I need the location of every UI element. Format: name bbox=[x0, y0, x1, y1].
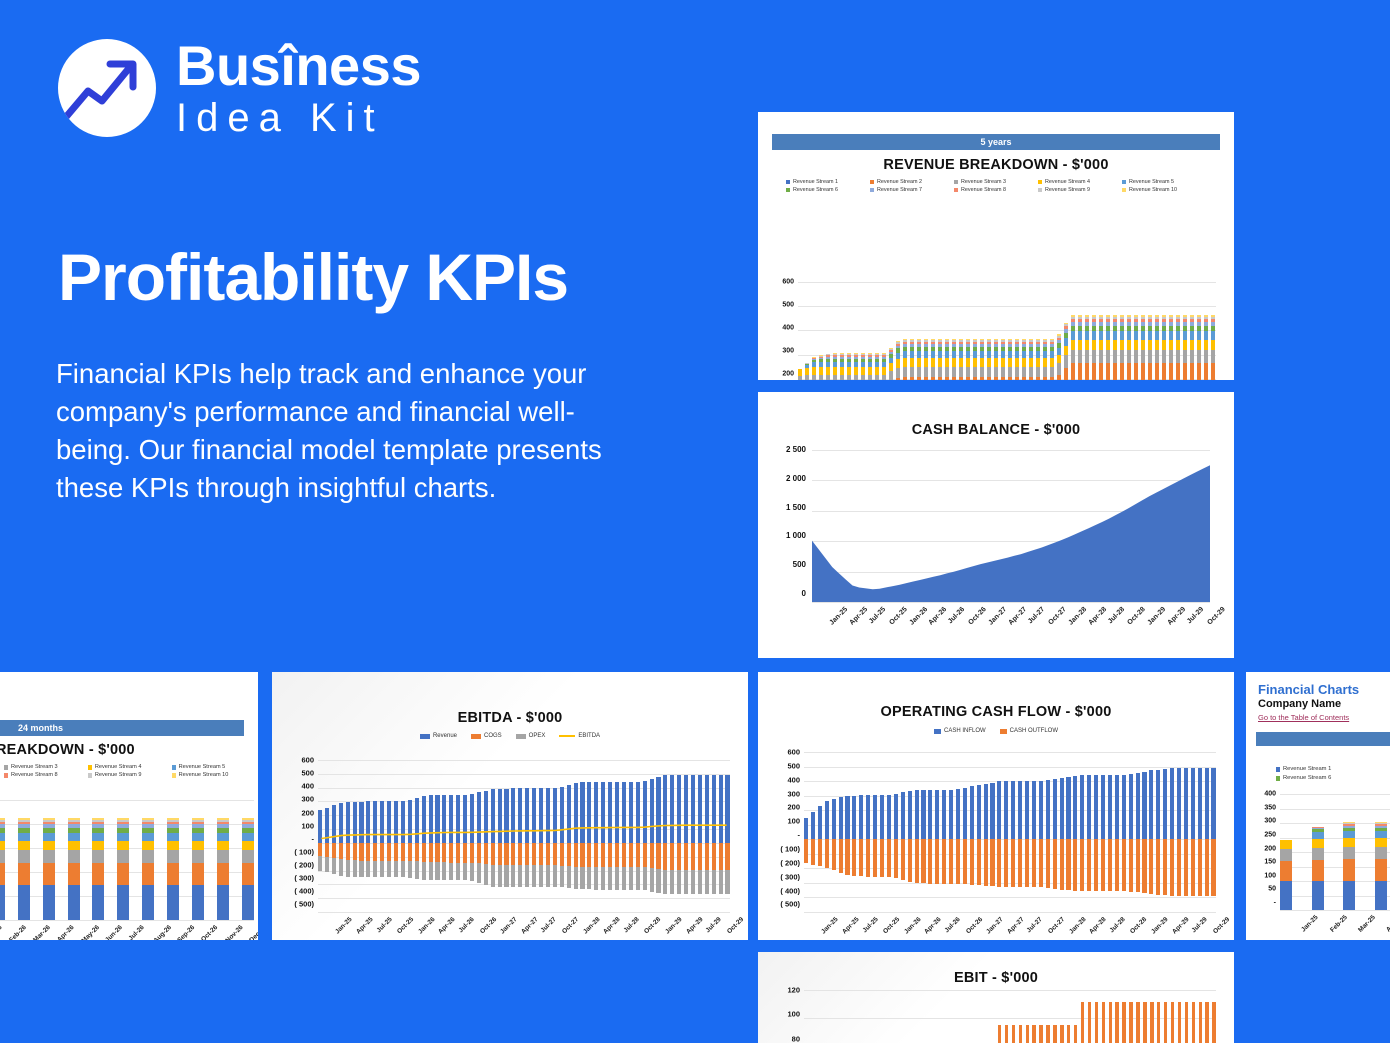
bar bbox=[854, 282, 858, 380]
bar bbox=[1211, 282, 1215, 380]
bar bbox=[1036, 282, 1040, 380]
bar-segment bbox=[882, 375, 886, 380]
bar-segment-negative bbox=[949, 839, 953, 884]
bar-segment-negative bbox=[1018, 839, 1022, 887]
bar bbox=[1015, 282, 1019, 380]
bar bbox=[1078, 282, 1082, 380]
bar bbox=[1343, 794, 1355, 910]
legend-item: Revenue Stream 9 bbox=[1038, 187, 1122, 193]
x-axis-tick: Jan-28 bbox=[582, 916, 602, 936]
bar-segment bbox=[1375, 859, 1387, 881]
bar-segment-positive bbox=[894, 794, 898, 839]
bar-segment bbox=[92, 863, 104, 885]
bar-segment bbox=[217, 841, 229, 851]
bar-segment bbox=[1280, 849, 1292, 861]
bar-segment bbox=[242, 833, 254, 841]
bar-segment bbox=[1078, 340, 1082, 350]
legend-swatch-icon bbox=[559, 735, 575, 737]
bar bbox=[1071, 282, 1075, 380]
x-axis-tick: Jul-27 bbox=[540, 916, 558, 934]
bar-segment-positive bbox=[984, 784, 988, 840]
bar-segment bbox=[1169, 331, 1173, 339]
bar-segment bbox=[1050, 377, 1054, 380]
bar-segment bbox=[910, 367, 914, 378]
bar-segment bbox=[242, 885, 254, 920]
x-axis-tick: Apr-26 bbox=[923, 916, 943, 936]
bar-segment bbox=[1312, 860, 1324, 881]
legend-label: Revenue Stream 2 bbox=[877, 179, 922, 185]
legend-swatch-icon bbox=[516, 734, 526, 739]
bar bbox=[1004, 752, 1008, 912]
bar-segment-positive bbox=[811, 812, 815, 839]
bar-segment bbox=[167, 833, 179, 841]
bar bbox=[1184, 752, 1188, 912]
bar-segment bbox=[1064, 338, 1068, 346]
bar-segment-positive bbox=[1115, 775, 1119, 839]
bar bbox=[804, 990, 807, 1043]
bar-segment bbox=[1102, 1002, 1105, 1043]
bar bbox=[938, 282, 942, 380]
bar bbox=[1150, 990, 1153, 1043]
bar-segment bbox=[1022, 358, 1026, 366]
x-axis-tick: Jan-27 bbox=[988, 606, 1009, 627]
bar-segment bbox=[910, 351, 914, 358]
bar-segment bbox=[1071, 331, 1075, 339]
card-ebitda[interactable]: EBITDA - $'000 RevenueCOGSOPEXEBITDA 600… bbox=[272, 672, 748, 940]
bar-segment bbox=[1064, 368, 1068, 380]
card-financial-charts-sheet[interactable]: Financial Charts Company Name Go to the … bbox=[1246, 672, 1390, 940]
legend-item: OPEX bbox=[516, 733, 546, 739]
bar-segment-positive bbox=[1142, 772, 1146, 840]
bar-segment bbox=[931, 377, 935, 380]
card-cash-balance[interactable]: CASH BALANCE - $'000 2 5002 0001 5001 00… bbox=[758, 392, 1234, 658]
x-axis-tick: Jul-27 bbox=[1026, 916, 1044, 934]
bar-segment bbox=[994, 367, 998, 378]
bar-segment bbox=[1071, 350, 1075, 363]
x-axis-tick: Oct-29 bbox=[1206, 606, 1226, 626]
bar bbox=[846, 990, 849, 1043]
bar-segment bbox=[805, 368, 809, 375]
x-axis-tick: Oct-27 bbox=[561, 916, 580, 935]
bar-segment bbox=[1178, 1002, 1181, 1043]
chart-title-cash-balance: CASH BALANCE - $'000 bbox=[758, 422, 1234, 438]
card-operating-cash-flow[interactable]: OPERATING CASH FLOW - $'000 CASH INFLOWC… bbox=[758, 672, 1234, 940]
bar bbox=[826, 282, 830, 380]
bar bbox=[1134, 282, 1138, 380]
bar-segment bbox=[117, 850, 129, 863]
bar-segment bbox=[903, 367, 907, 378]
bar-segment bbox=[1141, 340, 1145, 350]
bar-segment bbox=[1022, 351, 1026, 358]
bar-segment bbox=[896, 353, 900, 360]
x-axis-tick: Apr-25 bbox=[848, 606, 869, 627]
bar-segment-positive bbox=[1039, 781, 1043, 839]
bar-segment bbox=[1008, 367, 1012, 378]
bar-segment bbox=[43, 833, 55, 841]
bar bbox=[1198, 752, 1202, 912]
legend-item: Revenue Stream 7 bbox=[870, 187, 954, 193]
bar-segment bbox=[833, 375, 837, 380]
bar bbox=[1074, 990, 1077, 1043]
bar-segment bbox=[959, 377, 963, 380]
bar bbox=[901, 752, 905, 912]
bar-segment bbox=[833, 367, 837, 375]
cash-balance-area bbox=[772, 450, 1220, 602]
bar bbox=[931, 282, 935, 380]
y-axis-tick: 200 bbox=[787, 804, 800, 812]
bar-segment-positive bbox=[1108, 775, 1112, 839]
bar-segment-positive bbox=[1205, 768, 1209, 839]
bar-segment bbox=[1015, 358, 1019, 366]
x-axis-tick: Oct-28 bbox=[1129, 916, 1148, 935]
bar-segment-positive bbox=[1018, 781, 1022, 839]
bar-segment bbox=[1085, 331, 1089, 339]
bar-segment bbox=[973, 351, 977, 358]
bar bbox=[987, 282, 991, 380]
bar bbox=[1094, 752, 1098, 912]
x-axis-tick: Oct-26 bbox=[964, 916, 983, 935]
x-axis-tick: Jul-29 bbox=[1191, 916, 1209, 934]
y-axis-tick: - bbox=[798, 831, 801, 839]
bar bbox=[908, 990, 911, 1043]
bar-segment bbox=[826, 367, 830, 375]
legend-label: Revenue Stream 5 bbox=[1129, 179, 1174, 185]
y-axis-tick: 250 bbox=[1264, 831, 1276, 838]
bar bbox=[1148, 282, 1152, 380]
bar bbox=[936, 990, 939, 1043]
bar bbox=[1155, 282, 1159, 380]
x-axis-tick: Oct-28 bbox=[643, 916, 662, 935]
bar-segment bbox=[1211, 340, 1215, 350]
bar-segment-positive bbox=[1184, 768, 1188, 839]
bar-segment bbox=[1375, 847, 1387, 859]
legend-item: CASH INFLOW bbox=[934, 728, 986, 734]
x-axis-tick: Mar-25 bbox=[1357, 914, 1377, 934]
legend-item: Revenue Stream 8 bbox=[954, 187, 1038, 193]
bar-segment bbox=[896, 378, 900, 380]
bar-segment-negative bbox=[832, 839, 836, 870]
bar-segment bbox=[952, 358, 956, 366]
bar-segment bbox=[889, 371, 893, 380]
bar-segment bbox=[167, 885, 179, 920]
bar bbox=[942, 990, 945, 1043]
bar-series bbox=[804, 990, 1216, 1043]
legend-item: Revenue Stream 10 bbox=[1122, 187, 1206, 193]
bar-segment bbox=[896, 368, 900, 379]
bar-segment-negative bbox=[887, 839, 891, 877]
bar-segment bbox=[1212, 1002, 1215, 1043]
legend-item: EBITDA bbox=[559, 733, 600, 739]
legend-swatch-icon bbox=[1038, 180, 1042, 184]
bar-segment-positive bbox=[1011, 781, 1015, 839]
bar-segment bbox=[1057, 355, 1061, 364]
bar-segment bbox=[882, 367, 886, 375]
bar-segment bbox=[945, 367, 949, 378]
x-axis-tick: Apr-29 bbox=[1171, 916, 1191, 936]
bar-segment bbox=[903, 358, 907, 366]
bar-segment bbox=[1197, 350, 1201, 363]
bar-segment bbox=[805, 375, 809, 380]
bar-segment bbox=[68, 841, 80, 851]
legend-label: Revenue Stream 3 bbox=[961, 179, 1006, 185]
bar-segment bbox=[903, 377, 907, 380]
bar-segment bbox=[242, 841, 254, 851]
bar-segment bbox=[1088, 1002, 1091, 1043]
bar bbox=[1129, 752, 1133, 912]
bar-segment bbox=[931, 358, 935, 366]
legend-label: Revenue Stream 6 bbox=[1283, 775, 1331, 781]
bar-segment bbox=[192, 885, 204, 920]
legend-item: Revenue Stream 4 bbox=[1038, 179, 1122, 185]
legend-label: Revenue Stream 3 bbox=[11, 764, 58, 770]
bar bbox=[1178, 990, 1181, 1043]
bar-segment bbox=[1078, 363, 1082, 380]
bar-segment-negative bbox=[1053, 839, 1057, 889]
bar-segment bbox=[1015, 367, 1019, 378]
bar-segment bbox=[1099, 340, 1103, 350]
bar bbox=[859, 752, 863, 912]
bar bbox=[873, 752, 877, 912]
bar bbox=[970, 990, 973, 1043]
bar-segment bbox=[987, 367, 991, 378]
bar-segment bbox=[0, 833, 5, 841]
bar-segment-positive bbox=[977, 785, 981, 839]
legend-swatch-icon bbox=[870, 188, 874, 192]
legend-label: Revenue bbox=[433, 733, 457, 739]
card-revenue-breakdown-5y[interactable]: 5 years REVENUE BREAKDOWN - $'000 Revenu… bbox=[758, 112, 1234, 380]
bar-segment bbox=[68, 833, 80, 841]
bar-segment-negative bbox=[1115, 839, 1119, 891]
bar-segment bbox=[1204, 340, 1208, 350]
bar-segment-negative bbox=[1039, 839, 1043, 887]
bar-segment bbox=[1176, 363, 1180, 380]
bar-segment-positive bbox=[832, 799, 836, 840]
table-of-contents-link[interactable]: Go to the Table of Contents bbox=[1258, 713, 1359, 722]
bar bbox=[825, 990, 828, 1043]
bar-segment bbox=[1026, 1025, 1029, 1043]
y-axis-tick: 500 bbox=[782, 302, 794, 309]
bar-segment bbox=[1095, 1002, 1098, 1043]
bar-segment bbox=[1022, 377, 1026, 380]
bar-segment-positive bbox=[1129, 774, 1133, 839]
bar-segment bbox=[142, 863, 154, 885]
bar-segment bbox=[1280, 840, 1292, 849]
bar-segment-negative bbox=[1080, 839, 1084, 891]
legend-item: Revenue Stream 3 bbox=[4, 764, 88, 770]
x-axis-tick: Oct-27 bbox=[1047, 606, 1067, 626]
slide-canvas: Busîness Idea Kit Profitability KPIs Fin… bbox=[0, 0, 1390, 1043]
x-axis: Jan-25Apr-25Jul-25Oct-25Jan-26Apr-26Jul-… bbox=[804, 914, 1216, 940]
bar-segment bbox=[1375, 881, 1387, 910]
bar bbox=[852, 990, 855, 1043]
x-axis-tick: Jul-26 bbox=[947, 606, 966, 625]
legend-label: Revenue Stream 8 bbox=[961, 187, 1006, 193]
bar-segment bbox=[1078, 331, 1082, 339]
bar-segment bbox=[938, 351, 942, 358]
x-axis-tick: Jul-25 bbox=[868, 606, 887, 625]
x-axis-tick: Apr-26 bbox=[56, 924, 76, 940]
bar-segment-negative bbox=[1108, 839, 1112, 891]
bar bbox=[866, 990, 869, 1043]
plot-financial-charts: 40035030025020015010050-Jan-25Feb-25Mar-… bbox=[1254, 794, 1390, 910]
bar-segment-positive bbox=[949, 790, 953, 840]
bar-segment bbox=[812, 367, 816, 375]
bar-segment-negative bbox=[1094, 839, 1098, 891]
plot-revenue-breakdown-24m: Nov-25Dec-25Jan-26Feb-26Mar-26Apr-26May-… bbox=[0, 800, 254, 920]
bar-segment bbox=[973, 358, 977, 366]
bar bbox=[847, 282, 851, 380]
bar-segment-negative bbox=[956, 839, 960, 884]
bar-segment-negative bbox=[1004, 839, 1008, 886]
legend-item: Revenue Stream 6 bbox=[1276, 775, 1390, 781]
bar bbox=[1211, 752, 1215, 912]
bar-segment bbox=[896, 359, 900, 367]
legend-ebitda: RevenueCOGSOPEXEBITDA bbox=[272, 733, 748, 739]
y-axis-tick: ( 100) bbox=[780, 845, 800, 853]
bar bbox=[1157, 990, 1160, 1043]
bar bbox=[845, 752, 849, 912]
bar bbox=[1085, 282, 1089, 380]
bar-segment bbox=[1204, 350, 1208, 363]
bar-segment bbox=[1127, 350, 1131, 363]
bar bbox=[1122, 990, 1125, 1043]
bar bbox=[1092, 282, 1096, 380]
card-revenue-breakdown-24m[interactable]: 24 months REAKDOWN - $'000 Revenue Strea… bbox=[0, 672, 258, 940]
y-axis-tick: 300 bbox=[1264, 818, 1276, 825]
bar-segment bbox=[1190, 363, 1194, 380]
brand-name-secondary: Idea Kit bbox=[176, 98, 421, 138]
bar-segment bbox=[1192, 1002, 1195, 1043]
bar-segment bbox=[1001, 367, 1005, 378]
bar-segment bbox=[1029, 358, 1033, 366]
x-axis-tick: Jul-29 bbox=[1186, 606, 1205, 625]
bar-segment-negative bbox=[1060, 839, 1064, 890]
bar-segment bbox=[819, 367, 823, 375]
bar-segment bbox=[1211, 331, 1215, 339]
bar bbox=[818, 990, 821, 1043]
bar-segment bbox=[847, 375, 851, 380]
gridline bbox=[0, 920, 254, 921]
legend-item: Revenue Stream 2 bbox=[870, 179, 954, 185]
page-title: Profitability KPIs bbox=[58, 243, 568, 312]
y-axis-tick: 100 bbox=[1264, 872, 1276, 879]
bar-segment bbox=[1127, 331, 1131, 339]
y-axis-tick: 300 bbox=[782, 348, 794, 355]
x-axis-tick: Oct-29 bbox=[1212, 916, 1231, 935]
bar-segment bbox=[1148, 350, 1152, 363]
bar bbox=[142, 800, 154, 920]
x-axis-tick: Jan-29 bbox=[1150, 916, 1170, 936]
bar bbox=[924, 282, 928, 380]
bar bbox=[18, 800, 30, 920]
bar-segment bbox=[1169, 363, 1173, 380]
bar bbox=[901, 990, 904, 1043]
bar-segment bbox=[1211, 363, 1215, 380]
bar-segment-negative bbox=[1205, 839, 1209, 896]
bar-segment bbox=[1127, 363, 1131, 380]
bar-segment bbox=[217, 833, 229, 841]
bar-segment bbox=[1141, 331, 1145, 339]
bar-segment bbox=[1148, 363, 1152, 380]
bar-segment bbox=[117, 885, 129, 920]
bar bbox=[963, 990, 966, 1043]
bar-segment bbox=[959, 358, 963, 366]
bar-segment-negative bbox=[997, 839, 1001, 886]
bar-segment bbox=[242, 863, 254, 885]
bar-segment bbox=[980, 351, 984, 358]
bar bbox=[1057, 282, 1061, 380]
y-axis-tick: ( 500) bbox=[780, 901, 800, 909]
x-axis-tick: May-26 bbox=[80, 924, 101, 940]
card-ebit[interactable]: EBIT - $'000 12010080 bbox=[758, 952, 1234, 1043]
bar bbox=[882, 282, 886, 380]
bar-segment bbox=[68, 885, 80, 920]
bar-segment bbox=[1185, 1002, 1188, 1043]
y-axis-tick: 150 bbox=[1264, 859, 1276, 866]
bar-segment bbox=[1148, 331, 1152, 339]
x-axis-tick: Apr-25 bbox=[355, 916, 375, 936]
bar bbox=[949, 752, 953, 912]
bar bbox=[1141, 282, 1145, 380]
bar-segment bbox=[1050, 367, 1054, 378]
bar bbox=[1162, 282, 1166, 380]
bar bbox=[839, 990, 842, 1043]
bar-segment bbox=[1197, 331, 1201, 339]
bar bbox=[977, 990, 980, 1043]
bar bbox=[1039, 752, 1043, 912]
legend-item: Revenue Stream 3 bbox=[954, 179, 1038, 185]
bar-segment bbox=[1197, 340, 1201, 350]
chart-title-operating-cash-flow: OPERATING CASH FLOW - $'000 bbox=[758, 704, 1234, 720]
x-axis-tick: Jul-26 bbox=[457, 916, 475, 934]
bar-segment bbox=[1176, 340, 1180, 350]
x-axis-tick: Jul-29 bbox=[705, 916, 723, 934]
bar-segment-negative bbox=[1191, 839, 1195, 896]
bar-segment bbox=[910, 358, 914, 366]
bar-segment-positive bbox=[942, 790, 946, 840]
x-axis-tick: Jan-29 bbox=[664, 916, 684, 936]
bar-segment bbox=[242, 850, 254, 863]
bar-segment bbox=[43, 863, 55, 885]
bar-segment bbox=[1113, 331, 1117, 339]
bar-segment-negative bbox=[1025, 839, 1029, 887]
x-axis-tick: Apr-29 bbox=[1167, 606, 1188, 627]
bar bbox=[868, 282, 872, 380]
bar-segment bbox=[980, 377, 984, 380]
x-axis-tick: Jul-25 bbox=[861, 916, 879, 934]
bar bbox=[798, 282, 802, 380]
bar-segment bbox=[1029, 367, 1033, 378]
x-axis-tick: Sep-26 bbox=[176, 924, 196, 940]
bar-segment-negative bbox=[818, 839, 822, 866]
x-axis-tick: Apr-26 bbox=[437, 916, 457, 936]
bar-segment bbox=[43, 841, 55, 851]
bar-segment bbox=[1134, 350, 1138, 363]
bar-segment bbox=[994, 377, 998, 380]
bar-segment-positive bbox=[1211, 768, 1215, 839]
bar bbox=[1176, 282, 1180, 380]
bar-segment bbox=[1106, 363, 1110, 380]
bar-segment bbox=[1085, 350, 1089, 363]
bar-segment-positive bbox=[963, 788, 967, 840]
bar-segment bbox=[18, 833, 30, 841]
y-axis: 40035030025020015010050- bbox=[1254, 794, 1276, 910]
bar bbox=[929, 990, 932, 1043]
bar-segment bbox=[1036, 358, 1040, 366]
plot-operating-cash-flow: 600500400300200100-( 100)( 200)( 300)( 4… bbox=[770, 752, 1222, 912]
bar-series bbox=[1280, 794, 1390, 910]
bar-segment bbox=[1204, 331, 1208, 339]
